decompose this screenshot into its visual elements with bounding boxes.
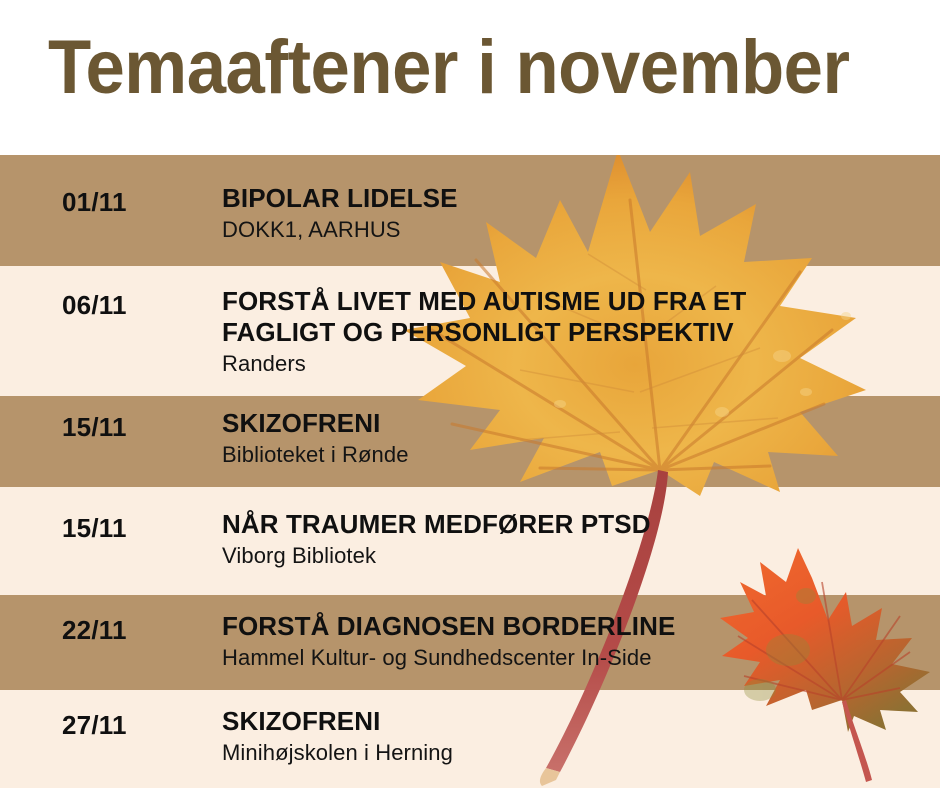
event-date: 06/11 [62,290,127,321]
event-date: 27/11 [62,710,127,741]
event-title: SKIZOFRENI [222,706,930,737]
event-row-5[interactable]: 22/11 FORSTÅ DIAGNOSEN BORDERLINE Hammel… [0,595,940,690]
event-details: NÅR TRAUMER MEDFØRER PTSD Viborg Bibliot… [222,509,930,570]
event-venue: Viborg Bibliotek [222,542,930,570]
event-details: SKIZOFRENI Minihøjskolen i Herning [222,706,930,767]
event-row-6[interactable]: 27/11 SKIZOFRENI Minihøjskolen i Herning [0,690,940,788]
event-row-4[interactable]: 15/11 NÅR TRAUMER MEDFØRER PTSD Viborg B… [0,487,940,595]
event-date: 22/11 [62,615,127,646]
page-title: Temaaftener i november [48,26,850,110]
event-row-3[interactable]: 15/11 SKIZOFRENI Biblioteket i Rønde [0,396,940,487]
event-date: 15/11 [62,513,127,544]
event-title: BIPOLAR LIDELSE [222,183,930,214]
event-venue: Hammel Kultur- og Sundhedscenter In-Side [222,644,930,672]
event-title: FORSTÅ DIAGNOSEN BORDERLINE [222,611,930,642]
event-title: SKIZOFRENI [222,408,930,439]
event-venue: Minihøjskolen i Herning [222,739,930,767]
event-date: 15/11 [62,412,127,443]
event-details: FORSTÅ LIVET MED AUTISME UD FRA ET FAGLI… [222,286,930,378]
event-title: NÅR TRAUMER MEDFØRER PTSD [222,509,930,540]
event-row-2[interactable]: 06/11 FORSTÅ LIVET MED AUTISME UD FRA ET… [0,266,940,396]
event-title: FORSTÅ LIVET MED AUTISME UD FRA ET FAGLI… [222,286,930,348]
event-venue: Biblioteket i Rønde [222,441,930,469]
event-row-1[interactable]: 01/11 BIPOLAR LIDELSE DOKK1, AARHUS [0,155,940,266]
poster-canvas: Temaaftener i november 01/11 BIPOLAR LID… [0,0,940,788]
event-venue: DOKK1, AARHUS [222,216,930,244]
event-details: SKIZOFRENI Biblioteket i Rønde [222,408,930,469]
event-details: BIPOLAR LIDELSE DOKK1, AARHUS [222,183,930,244]
event-venue: Randers [222,350,930,378]
event-date: 01/11 [62,187,127,218]
event-details: FORSTÅ DIAGNOSEN BORDERLINE Hammel Kultu… [222,611,930,672]
poster-header: Temaaftener i november [0,0,940,155]
